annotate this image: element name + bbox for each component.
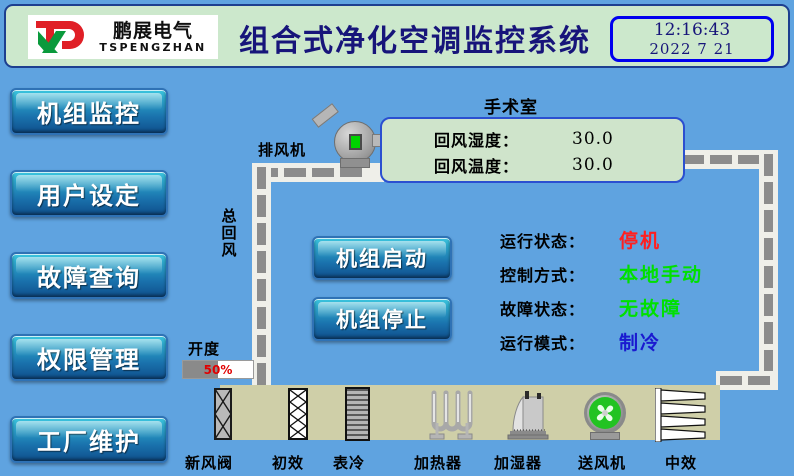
- exhaust-fan-icon: [315, 110, 385, 170]
- status-label: 故障状态：: [500, 296, 595, 320]
- primary-filter-icon: [288, 388, 308, 440]
- room-title: 手术室: [484, 93, 538, 118]
- damper-opening-percent: 50%: [183, 361, 253, 378]
- equipment-label-medium-filter: 中效: [665, 452, 697, 473]
- sidebar-item-unit-monitoring[interactable]: 机组监控: [10, 88, 168, 135]
- equipment-label-supply-fan: 送风机: [578, 452, 626, 473]
- logo-english-name: TSPENGZHAN: [99, 41, 206, 54]
- return-air-label: 总回风: [220, 208, 238, 259]
- heater-icon: [428, 390, 476, 440]
- status-panel: 运行状态： 停机 控制方式： 本地手动 故障状态： 无故障 运行模式： 制冷: [500, 226, 740, 362]
- cooling-coil-icon: [345, 387, 370, 441]
- status-row: 控制方式： 本地手动: [500, 260, 740, 294]
- damper-opening-label: 开度: [188, 338, 220, 359]
- sidebar-item-label: 故障查询: [37, 258, 141, 293]
- status-value-fault-state: 无故障: [619, 294, 682, 321]
- room-reading-row: 回风湿度： 30.0: [382, 126, 683, 152]
- status-row: 故障状态： 无故障: [500, 294, 740, 328]
- equipment-label-primary-filter: 初效: [272, 452, 304, 473]
- sidebar-item-label: 工厂维护: [37, 422, 141, 457]
- fresh-air-valve-icon: [212, 388, 234, 440]
- unit-stop-label: 机组停止: [336, 304, 428, 334]
- status-value-run-mode: 制冷: [619, 328, 661, 355]
- unit-stop-button[interactable]: 机组停止: [312, 297, 452, 341]
- unit-start-label: 机组启动: [336, 243, 428, 273]
- clock-date: 2022 7 21: [649, 40, 734, 58]
- hmi-screen: 鹏展电气 TSPENGZHAN 组合式净化空调监控系统 12:16:43 202…: [0, 0, 794, 476]
- page-title: 组合式净化空调监控系统: [230, 16, 600, 60]
- company-logo: 鹏展电气 TSPENGZHAN: [28, 15, 218, 59]
- duct-supply-bottom: [716, 371, 778, 390]
- tspengzhan-logo-icon: [32, 17, 88, 57]
- status-row: 运行模式： 制冷: [500, 328, 740, 362]
- logo-chinese-name: 鹏展电气: [113, 21, 193, 41]
- status-value-control-mode: 本地手动: [619, 260, 703, 287]
- room-reading-value: 30.0: [572, 155, 614, 175]
- sidebar-item-label: 权限管理: [37, 340, 141, 375]
- sidebar-item-permission-management[interactable]: 权限管理: [10, 334, 168, 381]
- equipment-label-heater: 加热器: [414, 452, 462, 473]
- sidebar-item-user-settings[interactable]: 用户设定: [10, 170, 168, 217]
- status-row: 运行状态： 停机: [500, 226, 740, 260]
- room-reading-row: 回风温度： 30.0: [382, 152, 683, 178]
- duct-return-vertical: [252, 163, 271, 390]
- medium-filter-icon: [655, 388, 709, 442]
- unit-start-button[interactable]: 机组启动: [312, 236, 452, 280]
- clock-time: 12:16:43: [654, 21, 730, 40]
- sidebar-item-factory-maintenance[interactable]: 工厂维护: [10, 416, 168, 463]
- status-label: 运行状态：: [500, 228, 595, 252]
- clock-display: 12:16:43 2022 7 21: [610, 16, 774, 62]
- sidebar-item-label: 用户设定: [37, 176, 141, 211]
- supply-fan-icon: [578, 392, 634, 440]
- room-reading-value: 30.0: [572, 129, 614, 149]
- status-label: 控制方式：: [500, 262, 595, 286]
- duct-supply-vertical: [759, 150, 778, 390]
- equipment-label-humidifier: 加湿器: [494, 452, 542, 473]
- room-readings-panel: 回风湿度： 30.0 回风温度： 30.0: [380, 117, 685, 183]
- room-reading-label: 回风温度：: [434, 153, 534, 177]
- room-reading-label: 回风湿度：: [434, 127, 534, 151]
- sidebar-item-label: 机组监控: [37, 94, 141, 129]
- exhaust-fan-label: 排风机: [258, 139, 306, 160]
- humidifier-icon: [505, 390, 551, 440]
- damper-opening-bar[interactable]: 50%: [182, 360, 254, 379]
- status-value-run-state: 停机: [619, 226, 661, 253]
- status-label: 运行模式：: [500, 330, 595, 354]
- equipment-label-cooling-coil: 表冷: [333, 452, 365, 473]
- header-bar: 鹏展电气 TSPENGZHAN 组合式净化空调监控系统 12:16:43 202…: [4, 4, 790, 68]
- equipment-label-fresh-air-valve: 新风阀: [185, 452, 233, 473]
- sidebar-item-fault-query[interactable]: 故障查询: [10, 252, 168, 299]
